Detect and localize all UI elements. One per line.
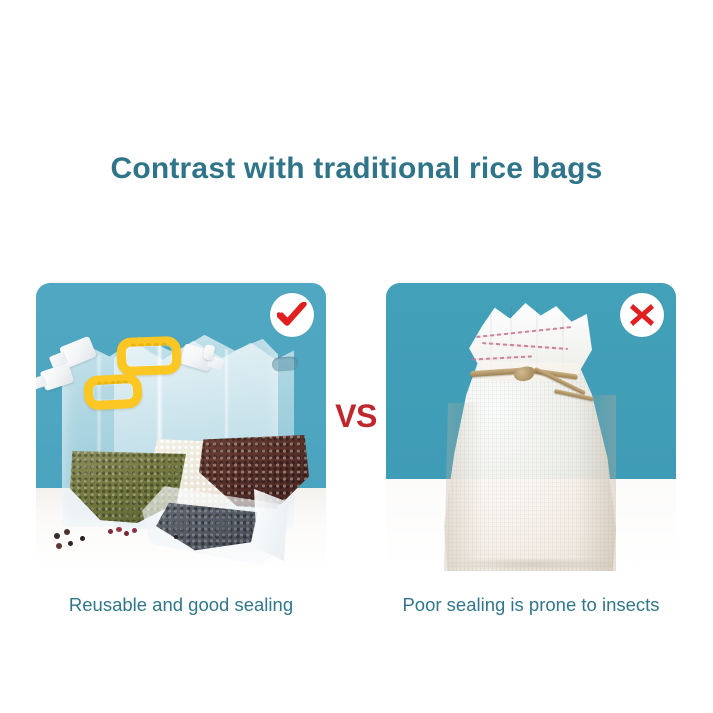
caption-right: Poor sealing is prone to insects [376,594,686,616]
caption-left: Reusable and good sealing [36,594,326,616]
comparison-panel-left [36,283,326,571]
yellow-carry-handle [116,336,181,376]
page-title: Contrast with traditional rice bags [0,152,713,186]
comparison-panel-right [386,283,676,571]
scattered-bean [64,529,70,535]
reusable-bags-photo [36,283,326,571]
vs-label: VS [326,398,386,435]
sack-shadow [448,559,616,571]
scattered-bean [56,543,62,549]
neck-fold [562,317,564,375]
product-comparison-image: Contrast with traditional rice bags [0,0,713,713]
die-cut-handle-slot [272,356,299,372]
scattered-bean [174,535,178,539]
sack-shading-left [444,403,484,571]
scattered-bean [124,531,129,536]
cross-badge [620,293,664,337]
scattered-bean [54,533,60,539]
scattered-bean [108,529,113,534]
traditional-rice-sack-photo [386,283,676,571]
scattered-bean [116,527,122,532]
scattered-bean [80,536,85,541]
scattered-bean [132,528,137,533]
check-badge [270,293,314,337]
yellow-carry-handle [83,374,143,411]
neck-fold [510,307,512,377]
sack-shading-right [576,395,616,571]
scattered-bean [68,541,73,546]
